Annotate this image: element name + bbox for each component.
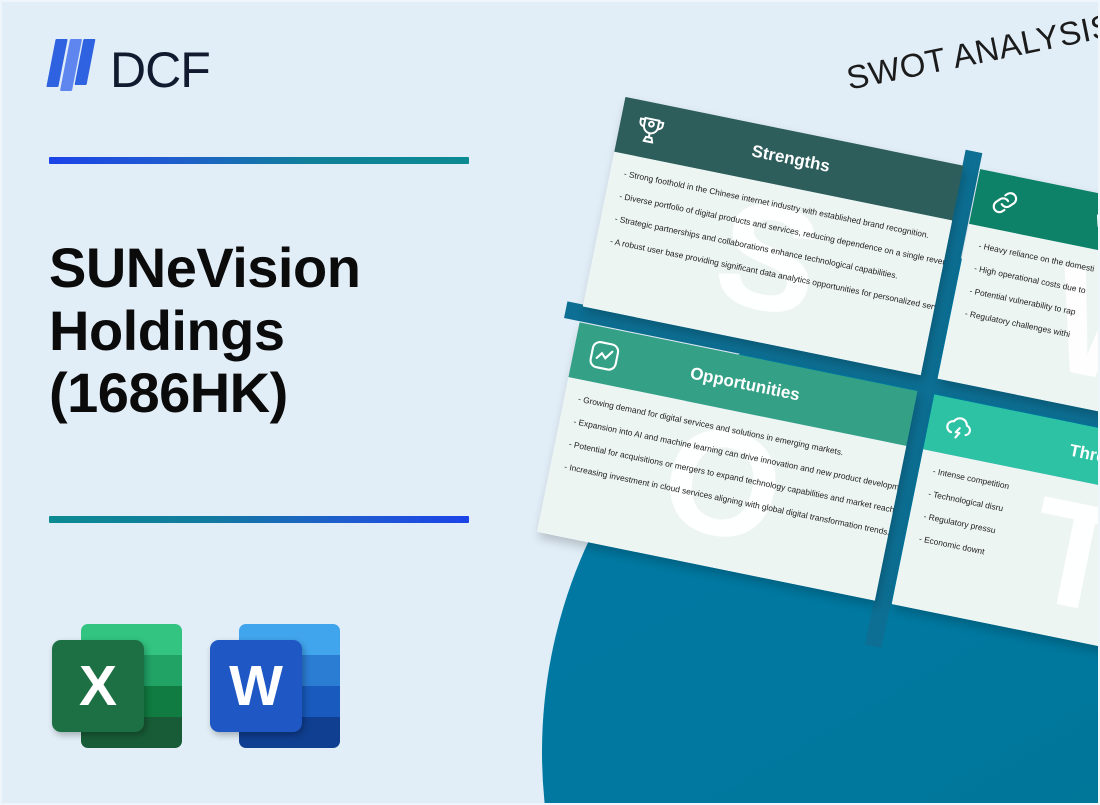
trophy-icon	[630, 110, 670, 150]
brand-name: DCF	[110, 45, 210, 95]
word-export-icon[interactable]: W	[210, 622, 340, 750]
export-icons: X W	[52, 622, 340, 750]
excel-letter: X	[52, 640, 144, 732]
divider-bottom	[49, 516, 469, 523]
left-panel: DCF SUNeVision Holdings (1686HK) X W	[2, 2, 562, 805]
divider-top	[49, 157, 469, 164]
swot-analysis-title: SWOT ANALYSIS	[843, 6, 1100, 97]
trend-line-icon	[584, 336, 624, 376]
company-name-line1: SUNeVision	[49, 237, 519, 300]
company-name-line2: Holdings	[49, 300, 519, 363]
dcf-bars-logo	[49, 39, 96, 101]
slide-canvas: SWOT ANALYSIS Strengths	[0, 0, 1100, 805]
dcf-brand[interactable]: DCF	[49, 39, 210, 101]
company-ticker: (1686HK)	[49, 362, 519, 425]
threats-list: Intense competition Technological disru …	[918, 466, 1100, 607]
list-item: Regulatory challenges withi	[964, 308, 1100, 381]
page-title: SUNeVision Holdings (1686HK)	[49, 237, 519, 425]
word-letter: W	[210, 640, 302, 732]
broken-link-icon	[985, 183, 1025, 223]
excel-export-icon[interactable]: X	[52, 622, 182, 750]
storm-cloud-icon	[939, 408, 979, 448]
weaknesses-list: Heavy reliance on the domesti High opera…	[964, 240, 1100, 381]
